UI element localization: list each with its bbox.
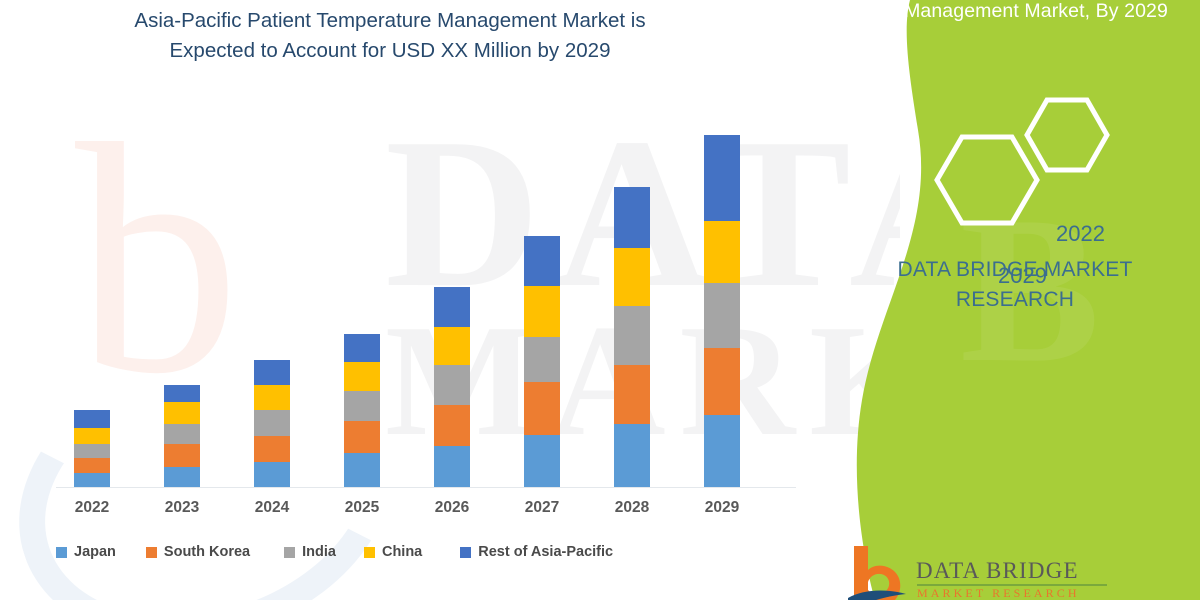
bar-segment-india[interactable] [74, 444, 110, 458]
x-axis-labels: 20222023202420252026202720282029 [0, 499, 800, 523]
bar-segment-rest-of-asia-pacific[interactable] [704, 135, 740, 221]
x-axis-label-2027: 2027 [507, 499, 577, 517]
dbmr-logo-wordmark: DATA BRIDGE [916, 558, 1079, 584]
bar-segment-india[interactable] [614, 306, 650, 365]
bar-segment-japan[interactable] [164, 467, 200, 487]
bar-segment-japan[interactable] [524, 435, 560, 487]
bar-segment-south-korea[interactable] [74, 458, 110, 473]
legend-swatch-icon [284, 547, 295, 558]
bar-segment-rest-of-asia-pacific[interactable] [344, 334, 380, 362]
dbmr-logo-mark-icon [848, 544, 908, 600]
bar-2025[interactable] [344, 334, 380, 487]
bar-2023[interactable] [164, 385, 200, 487]
bar-segment-japan[interactable] [434, 446, 470, 487]
hexagon-back-label: 2022 [1056, 221, 1105, 247]
bar-segment-india[interactable] [524, 337, 560, 382]
bar-segment-china[interactable] [434, 327, 470, 365]
bar-2024[interactable] [254, 360, 290, 487]
brand-name-line-2: RESEARCH [840, 285, 1190, 315]
bar-segment-rest-of-asia-pacific[interactable] [614, 187, 650, 248]
bar-segment-india[interactable] [254, 410, 290, 436]
legend-label: Rest of Asia-Pacific [478, 544, 613, 560]
legend-item-south-korea[interactable]: South Korea [146, 544, 250, 560]
brand-name: DATA BRIDGE MARKET RESEARCH [840, 255, 1190, 315]
bar-2026[interactable] [434, 287, 470, 487]
bar-segment-china[interactable] [74, 428, 110, 444]
legend-label: South Korea [164, 544, 250, 560]
x-axis-label-2023: 2023 [147, 499, 217, 517]
chart-baseline [56, 487, 796, 488]
bar-segment-south-korea[interactable] [434, 405, 470, 446]
stacked-bar-chart: 20222023202420252026202720282029 JapanSo… [0, 0, 860, 600]
legend-label: India [302, 544, 336, 560]
bar-segment-rest-of-asia-pacific[interactable] [74, 410, 110, 428]
legend-swatch-icon [56, 547, 67, 558]
x-axis-label-2025: 2025 [327, 499, 397, 517]
bar-segment-south-korea[interactable] [164, 444, 200, 467]
bar-segment-china[interactable] [254, 385, 290, 410]
dbmr-logo: DATA BRIDGE MARKET RESEARCH [840, 540, 1200, 600]
x-axis-label-2022: 2022 [57, 499, 127, 517]
hexagon-group: 2022 2029 [840, 95, 1200, 245]
hexagon-icons [840, 95, 1200, 245]
dbmr-logo-subtext: MARKET RESEARCH [917, 586, 1080, 600]
bar-segment-india[interactable] [344, 391, 380, 421]
infographic-canvas: b DATA B MARKET RESEARCH Asia-Pacific Pa… [0, 0, 1200, 600]
bar-segment-india[interactable] [434, 365, 470, 405]
bar-segment-south-korea[interactable] [704, 348, 740, 415]
bar-segment-japan[interactable] [614, 424, 650, 487]
legend-item-japan[interactable]: Japan [56, 544, 116, 560]
bar-segment-china[interactable] [164, 402, 200, 424]
bar-segment-rest-of-asia-pacific[interactable] [254, 360, 290, 385]
legend-swatch-icon [460, 547, 471, 558]
bar-segment-china[interactable] [614, 248, 650, 306]
bar-segment-china[interactable] [344, 362, 380, 391]
legend-item-china[interactable]: China [364, 544, 422, 560]
brand-name-line-1: DATA BRIDGE MARKET [840, 255, 1190, 285]
x-axis-label-2028: 2028 [597, 499, 667, 517]
brand-panel: B Management Market, By 2029 2022 2029 D… [840, 0, 1200, 600]
bar-segment-south-korea[interactable] [614, 365, 650, 424]
brand-panel-title: Management Market, By 2029 [840, 0, 1182, 26]
legend-item-rest-of-asia-pacific[interactable]: Rest of Asia-Pacific [460, 544, 613, 560]
hexagon-back-icon [1027, 100, 1107, 170]
bar-segment-japan[interactable] [344, 453, 380, 487]
bar-segment-rest-of-asia-pacific[interactable] [434, 287, 470, 327]
hexagon-front-icon [937, 137, 1037, 223]
legend-item-india[interactable]: India [284, 544, 336, 560]
x-axis-label-2024: 2024 [237, 499, 307, 517]
bar-segment-south-korea[interactable] [524, 382, 560, 435]
bar-2027[interactable] [524, 236, 560, 487]
bar-2029[interactable] [704, 135, 740, 487]
chart-legend: JapanSouth KoreaIndiaChinaRest of Asia-P… [56, 540, 796, 564]
legend-label: China [382, 544, 422, 560]
bar-segment-india[interactable] [704, 283, 740, 348]
bar-segment-china[interactable] [524, 286, 560, 337]
bar-segment-japan[interactable] [254, 462, 290, 487]
bar-segment-rest-of-asia-pacific[interactable] [524, 236, 560, 286]
bar-segment-south-korea[interactable] [254, 436, 290, 462]
legend-swatch-icon [146, 547, 157, 558]
legend-label: Japan [74, 544, 116, 560]
bar-2028[interactable] [614, 187, 650, 487]
x-axis-label-2026: 2026 [417, 499, 487, 517]
bar-segment-japan[interactable] [74, 473, 110, 487]
bar-segment-india[interactable] [164, 424, 200, 444]
bar-2022[interactable] [74, 410, 110, 487]
bar-segment-japan[interactable] [704, 415, 740, 487]
x-axis-label-2029: 2029 [687, 499, 757, 517]
bar-segment-south-korea[interactable] [344, 421, 380, 453]
legend-swatch-icon [364, 547, 375, 558]
bar-segment-rest-of-asia-pacific[interactable] [164, 385, 200, 402]
bar-segment-china[interactable] [704, 221, 740, 283]
